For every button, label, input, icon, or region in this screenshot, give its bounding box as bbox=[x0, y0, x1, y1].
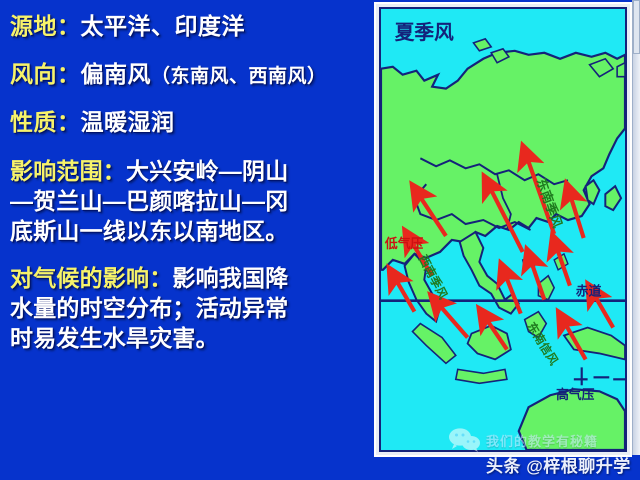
note-climate-line3: 时易发生水旱灾害。 bbox=[10, 325, 219, 351]
map-title: 夏季风 bbox=[395, 22, 454, 44]
note-wind-direction: 风向：偏南风（东南风、西南风） bbox=[10, 60, 364, 90]
label-low-pressure: 低气压 bbox=[384, 236, 423, 251]
note-range-line2: —贺兰山—巴颜喀拉山—冈 bbox=[10, 188, 288, 214]
monsoon-map-svg: 夏季风 低气压 高气压 赤道 东南季风 西南季风 东南信风 bbox=[381, 9, 625, 450]
map-frame: 夏季风 低气压 高气压 赤道 东南季风 西南季风 东南信风 bbox=[379, 7, 627, 452]
note-range-label: 影响范围： bbox=[10, 158, 126, 184]
scrollbar-thumb[interactable] bbox=[633, 0, 640, 54]
note-climate-label: 对气候的影响： bbox=[10, 265, 172, 291]
note-range: 影响范围：大兴安岭—阴山 —贺兰山—巴颜喀拉山—冈 底斯山一线以东以南地区。 bbox=[10, 156, 364, 247]
note-source-value: 太平洋、印度洋 bbox=[81, 13, 246, 39]
note-climate-line1: 影响我国降 bbox=[172, 265, 288, 291]
note-climate: 对气候的影响：影响我国降 水量的时空分布；活动异常 时易发生水旱灾害。 bbox=[10, 263, 364, 354]
note-wind-direction-paren: （东南风、西南风） bbox=[151, 66, 327, 87]
note-source: 源地：太平洋、印度洋 bbox=[10, 12, 364, 42]
slide-root: 源地：太平洋、印度洋 风向：偏南风（东南风、西南风） 性质：温暖湿润 影响范围：… bbox=[0, 0, 640, 480]
note-source-label: 源地： bbox=[10, 13, 81, 39]
note-range-line3: 底斯山一线以东以南地区。 bbox=[10, 218, 288, 244]
note-climate-line2: 水量的时空分布；活动异常 bbox=[10, 295, 288, 321]
note-nature-value: 温暖湿润 bbox=[81, 109, 175, 135]
map-panel: 夏季风 低气压 高气压 赤道 东南季风 西南季风 东南信风 bbox=[374, 2, 632, 457]
notes-panel: 源地：太平洋、印度洋 风向：偏南风（东南风、西南风） 性质：温暖湿润 影响范围：… bbox=[0, 0, 372, 480]
label-high-pressure: 高气压 bbox=[556, 387, 594, 402]
label-equator: 赤道 bbox=[576, 284, 602, 299]
note-wind-direction-value: 偏南风 bbox=[81, 61, 152, 87]
note-nature: 性质：温暖湿润 bbox=[10, 108, 364, 138]
map-canvas: 夏季风 低气压 高气压 赤道 东南季风 西南季风 东南信风 bbox=[381, 9, 625, 450]
note-range-line1: 大兴安岭—阴山 bbox=[126, 158, 288, 184]
note-nature-label: 性质： bbox=[10, 109, 81, 135]
note-wind-direction-label: 风向： bbox=[10, 61, 81, 87]
scrollbar-vertical[interactable] bbox=[632, 0, 640, 455]
